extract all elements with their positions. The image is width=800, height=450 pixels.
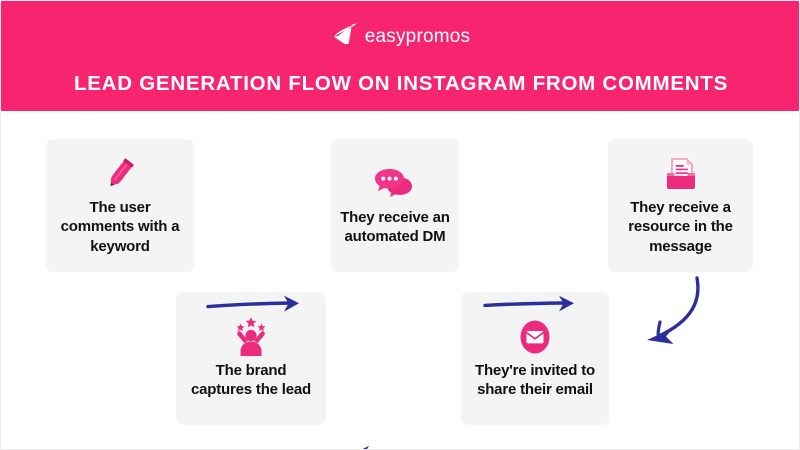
arrow-right-icon-1 bbox=[206, 293, 312, 322]
header-banner: easypromos LEAD GENERATION FLOW ON INSTA… bbox=[1, 1, 800, 111]
flow-step-card-1[interactable]: The user comments with a keyword bbox=[46, 139, 194, 272]
infographic-root: easypromos LEAD GENERATION FLOW ON INSTA… bbox=[0, 0, 800, 450]
easypromos-paper-plane-logo-icon bbox=[332, 22, 358, 51]
pencil-icon bbox=[103, 153, 137, 195]
brand-lockup: easypromos bbox=[332, 23, 471, 49]
brand-name: easypromos bbox=[365, 27, 471, 46]
document-tray-icon bbox=[662, 153, 700, 195]
envelope-circle-icon bbox=[517, 316, 553, 358]
chat-bubbles-icon bbox=[375, 163, 415, 205]
flow-step-label-4: They're invited to share their email bbox=[469, 361, 601, 399]
flow-step-label-5: The brand captures the lead bbox=[184, 361, 318, 399]
flow-step-card-3[interactable]: They receive a resource in the message bbox=[608, 139, 753, 272]
flow-diagram: The user comments with a keyword They re… bbox=[1, 111, 800, 450]
flow-step-label-3: They receive a resource in the message bbox=[616, 198, 745, 256]
flow-step-card-2[interactable]: They receive an automated DM bbox=[331, 139, 459, 272]
person-stars-icon bbox=[232, 316, 270, 358]
flow-step-label-1: The user comments with a keyword bbox=[54, 198, 186, 256]
arrow-right-icon-2 bbox=[483, 293, 587, 322]
arrow-curved-down-left-icon bbox=[629, 274, 719, 361]
page-title: LEAD GENERATION FLOW ON INSTAGRAM FROM C… bbox=[74, 72, 728, 96]
arrow-left-icon bbox=[335, 443, 449, 450]
flow-step-label-2: They receive an automated DM bbox=[339, 208, 451, 246]
